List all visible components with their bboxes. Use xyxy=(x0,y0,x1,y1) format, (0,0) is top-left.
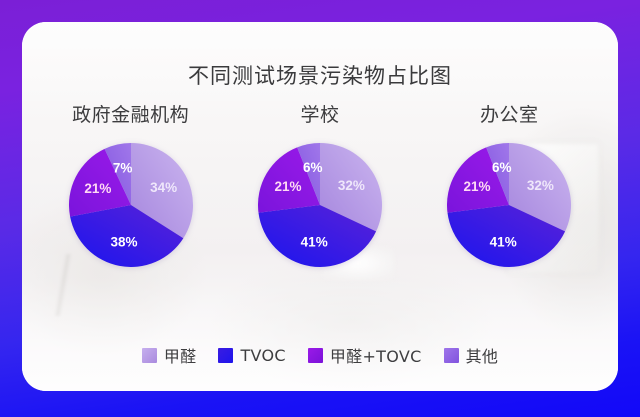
legend-item-label: 其他 xyxy=(466,343,499,367)
pie-slice-label: 34% xyxy=(150,180,177,195)
legend-swatch-icon xyxy=(218,348,233,363)
pie-slice-label: 38% xyxy=(110,235,137,250)
pie-chart: 34%38%21%7% xyxy=(65,139,197,271)
legend-item[interactable]: 其他 xyxy=(444,343,499,367)
pie-chart-panel: 学校32%41%21%6% xyxy=(227,100,413,271)
gradient-frame: 不同测试场景污染物占比图 政府金融机构34%38%21%7%学校32%41%21… xyxy=(0,0,640,417)
pie-slice-label: 32% xyxy=(527,178,554,193)
legend-item[interactable]: TVOC xyxy=(218,346,285,365)
legend-item-label: 甲醛 xyxy=(164,343,197,367)
chart-legend: 甲醛TVOC甲醛+TOVC其他 xyxy=(22,343,618,367)
pie-chart: 32%41%21%6% xyxy=(443,139,575,271)
pie-chart-panel-title: 办公室 xyxy=(480,100,539,127)
page-title: 不同测试场景污染物占比图 xyxy=(22,60,618,90)
legend-swatch-icon xyxy=(308,348,323,363)
pie-chart-panel-title: 学校 xyxy=(300,100,339,127)
pie-chart-panel: 办公室32%41%21%6% xyxy=(416,100,602,271)
pie-chart-panel: 政府金融机构34%38%21%7% xyxy=(38,100,224,271)
pie-slice-label: 41% xyxy=(490,235,517,250)
legend-swatch-icon xyxy=(142,348,157,363)
legend-item[interactable]: 甲醛+TOVC xyxy=(308,343,422,367)
pie-slice-label: 32% xyxy=(338,178,365,193)
pie-chart-panel-title: 政府金融机构 xyxy=(72,100,189,127)
pie-slice-label: 6% xyxy=(303,160,323,175)
chart-card: 不同测试场景污染物占比图 政府金融机构34%38%21%7%学校32%41%21… xyxy=(22,22,618,391)
pie-chart: 32%41%21%6% xyxy=(254,139,386,271)
legend-swatch-icon xyxy=(444,348,459,363)
legend-item-label: TVOC xyxy=(240,346,285,365)
pie-slice-label: 7% xyxy=(112,161,132,176)
chart-content: 不同测试场景污染物占比图 政府金融机构34%38%21%7%学校32%41%21… xyxy=(22,22,618,391)
pie-slice-label: 21% xyxy=(84,181,111,196)
pie-slice-label: 41% xyxy=(301,235,328,250)
legend-item-label: 甲醛+TOVC xyxy=(330,343,422,367)
pie-chart-row: 政府金融机构34%38%21%7%学校32%41%21%6%办公室32%41%2… xyxy=(36,100,604,271)
pie-slice-label: 6% xyxy=(492,160,512,175)
pie-slice-label: 21% xyxy=(464,179,491,194)
pie-slice-label: 21% xyxy=(274,179,301,194)
legend-item[interactable]: 甲醛 xyxy=(142,343,197,367)
